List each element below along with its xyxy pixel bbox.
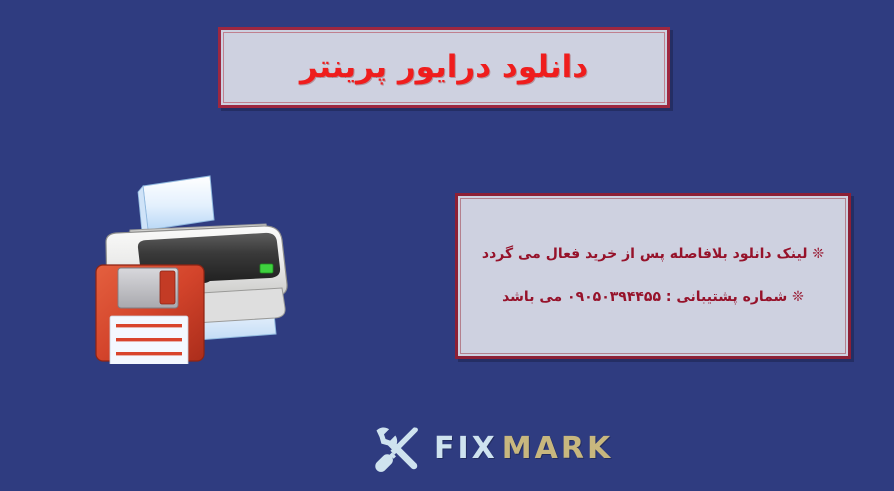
wrench-screwdriver-icon	[368, 421, 424, 477]
brand-wordmark: FIX MARK	[434, 434, 613, 464]
brand-word-mark: MARK	[502, 434, 613, 464]
printer-illustration	[86, 168, 312, 364]
floppy-disk-icon	[96, 265, 204, 364]
info-card: ❊ لینک دانلود بلافاصله پس از خرید فعال م…	[455, 193, 851, 359]
printer-status-led	[260, 264, 273, 273]
info-card-inner-border	[460, 198, 846, 354]
brand-word-fix: FIX	[434, 434, 498, 464]
title-card: دانلود درایور پرینتر	[218, 27, 670, 108]
info-line-download-activation: ❊ لینک دانلود بلافاصله پس از خرید فعال م…	[482, 246, 824, 263]
page-title: دانلود درایور پرینتر	[300, 50, 588, 84]
brand-logo: FIX MARK	[368, 418, 574, 480]
info-line-support-number: ❊ شماره پشتیبانی : ۰۹۰۵۰۳۹۴۴۵۵ می باشد	[502, 289, 804, 306]
slide-canvas: دانلود درایور پرینتر	[0, 0, 894, 491]
printer-feed-paper	[138, 176, 214, 232]
